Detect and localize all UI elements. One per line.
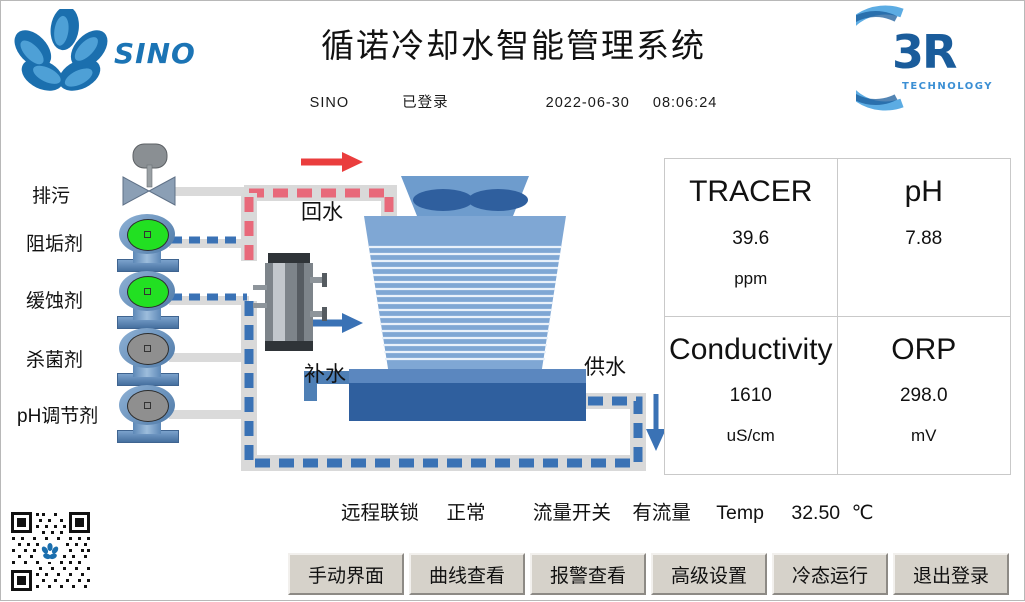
flow-switch-label: 流量开关 (533, 496, 611, 525)
measurement-name: Conductivity (669, 331, 832, 369)
measurement-cell-tracer: TRACER 39.6 ppm (665, 159, 838, 317)
pump-inhibitor[interactable] (119, 271, 175, 329)
remote-interlock-value: 正常 (446, 496, 485, 525)
temperature-label: Temp (716, 502, 764, 525)
measurement-unit: uS/cm (727, 426, 775, 446)
qr-code[interactable] (8, 509, 93, 594)
pump-center-dot (144, 402, 151, 409)
tower-fan-blade-right (468, 189, 528, 211)
label-return-water: 回水 (301, 201, 343, 224)
pipe-biocide-line (169, 353, 249, 362)
dosing-dashed-feeds (171, 240, 247, 297)
logout-button[interactable]: 退出登录 (893, 553, 1009, 595)
bottom-status-row: 远程联锁 正常 流量开关 有流量 Temp 32.50 ℃ (341, 496, 1025, 525)
measurement-cell-conductivity: Conductivity 1610 uS/cm (665, 317, 838, 475)
temperature-value: 32.50 (791, 502, 840, 525)
measurement-value: 39.6 (732, 228, 769, 250)
pump-center-dot (144, 345, 151, 352)
app-window: SINO 3R TECHNOLOGY 循诺冷却水智能管理系统 SINO 已登录 … (0, 0, 1025, 601)
measurement-value: 298.0 (900, 385, 948, 407)
measurement-panel: TRACER 39.6 ppm pH 7.88 Conductivity 161… (664, 158, 1011, 475)
measurement-unit: mV (911, 426, 937, 446)
blowdown-valve (123, 144, 175, 205)
pipe-ph-line (169, 410, 249, 419)
measurement-value: 1610 (730, 385, 772, 407)
bottom-button-bar: 手动界面 曲线查看 报警查看 高级设置 冷态运行 退出登录 (288, 553, 1009, 595)
manual-interface-button[interactable]: 手动界面 (288, 553, 404, 595)
heat-exchanger (253, 253, 327, 351)
measurement-name: TRACER (689, 173, 812, 211)
pump-ph-adjust[interactable] (119, 385, 175, 443)
measurement-value: 7.88 (905, 228, 942, 250)
flow-switch-value: 有流量 (632, 496, 691, 525)
pump-center-dot (144, 231, 151, 238)
pipe-blowdown-line (169, 187, 249, 196)
qr-center-logo (40, 542, 60, 562)
tower-basin-top (349, 369, 586, 383)
temperature-unit: ℃ (852, 501, 874, 525)
pump-center-dot (144, 288, 151, 295)
advanced-settings-button[interactable]: 高级设置 (651, 553, 767, 595)
label-supply-water: 供水 (584, 356, 626, 379)
remote-interlock-label: 远程联锁 (341, 496, 419, 525)
pump-biocide[interactable] (119, 328, 175, 386)
measurement-unit: ppm (734, 269, 767, 289)
measurement-cell-ph: pH 7.88 (838, 159, 1011, 317)
alarm-view-button[interactable]: 报警查看 (530, 553, 646, 595)
measurement-cell-orp: ORP 298.0 mV (838, 317, 1011, 475)
pump-antiscalant[interactable] (119, 214, 175, 272)
tower-basin (349, 383, 586, 421)
measurement-name: ORP (891, 331, 956, 369)
measurement-name: pH (905, 173, 943, 211)
tower-fan-blade-left (413, 189, 473, 211)
cold-run-button[interactable]: 冷态运行 (772, 553, 888, 595)
curve-view-button[interactable]: 曲线查看 (409, 553, 525, 595)
label-makeup-water: 补水 (304, 363, 346, 386)
